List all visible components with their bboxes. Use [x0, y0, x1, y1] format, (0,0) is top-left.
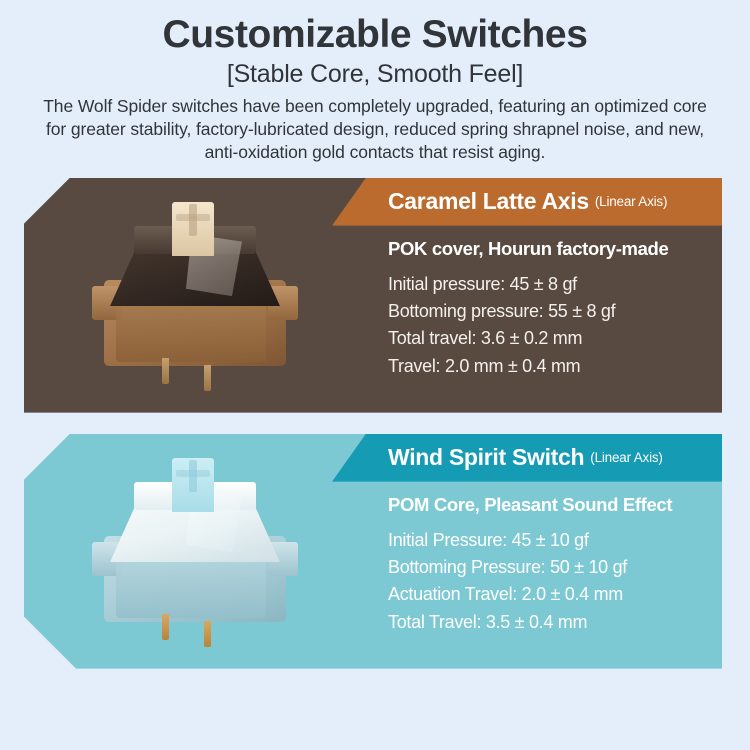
- page-title: Customizable Switches: [28, 14, 722, 56]
- switch-photo-caramel-latte: [24, 178, 366, 413]
- header-block: Customizable Switches [Stable Core, Smoo…: [0, 0, 750, 165]
- spec-item: Bottoming Pressure: 50 ± 10 gf: [388, 554, 712, 581]
- spec-item: Travel: 2.0 mm ± 0.4 mm: [388, 353, 712, 380]
- switch-pin-left: [162, 614, 169, 640]
- switch-type-wind-spirit: (Linear Axis): [590, 450, 662, 465]
- switch-card-list: Caramel Latte Axis (Linear Axis) POK cov…: [0, 178, 750, 669]
- spec-item: Total Travel: 3.5 ± 0.4 mm: [388, 609, 712, 636]
- switch-info-caramel-latte: Caramel Latte Axis (Linear Axis) POK cov…: [366, 178, 722, 413]
- switch-spec-list-caramel-latte: Initial pressure: 45 ± 8 gf Bottoming pr…: [388, 271, 712, 380]
- switch-pin-left: [162, 358, 169, 384]
- switch-stem-cross-horizontal: [176, 214, 210, 221]
- spec-item: Actuation Travel: 2.0 ± 0.4 mm: [388, 581, 712, 608]
- switch-pin-right: [204, 365, 211, 391]
- page-subtitle: [Stable Core, Smooth Feel]: [28, 60, 722, 89]
- switch-type-caramel-latte: (Linear Axis): [595, 194, 667, 209]
- switch-headline-caramel-latte: POK cover, Hourun factory-made: [388, 238, 712, 260]
- wind-spirit-switch-illustration: [90, 456, 300, 646]
- switch-card-wind-spirit[interactable]: Wind Spirit Switch (Linear Axis) POM Cor…: [24, 434, 722, 669]
- caramel-latte-switch-illustration: [90, 200, 300, 390]
- switch-spec-block-wind-spirit: POM Core, Pleasant Sound Effect Initial …: [366, 482, 722, 636]
- switch-name-caramel-latte: Caramel Latte Axis: [388, 188, 589, 215]
- switch-photo-wind-spirit: [24, 434, 366, 669]
- switch-headline-wind-spirit: POM Core, Pleasant Sound Effect: [388, 494, 712, 516]
- spec-item: Total travel: 3.6 ± 0.2 mm: [388, 325, 712, 352]
- spec-item: Bottoming pressure: 55 ± 8 gf: [388, 298, 712, 325]
- switch-spec-block-caramel-latte: POK cover, Hourun factory-made Initial p…: [366, 226, 722, 380]
- switch-card-caramel-latte[interactable]: Caramel Latte Axis (Linear Axis) POK cov…: [24, 178, 722, 413]
- switch-info-wind-spirit: Wind Spirit Switch (Linear Axis) POM Cor…: [366, 434, 722, 669]
- spec-item: Initial pressure: 45 ± 8 gf: [388, 271, 712, 298]
- page-description: The Wolf Spider switches have been compl…: [41, 95, 709, 165]
- switch-title-bar-caramel-latte: Caramel Latte Axis (Linear Axis): [332, 178, 722, 226]
- product-infographic-page: { "page": { "background_color": "#e4eefa…: [0, 0, 750, 750]
- switch-pin-right: [204, 621, 211, 647]
- switch-name-wind-spirit: Wind Spirit Switch: [388, 444, 584, 471]
- switch-stem-cross-horizontal: [176, 470, 210, 477]
- switch-title-bar-wind-spirit: Wind Spirit Switch (Linear Axis): [332, 434, 722, 482]
- spec-item: Initial Pressure: 45 ± 10 gf: [388, 527, 712, 554]
- switch-spec-list-wind-spirit: Initial Pressure: 45 ± 10 gf Bottoming P…: [388, 527, 712, 636]
